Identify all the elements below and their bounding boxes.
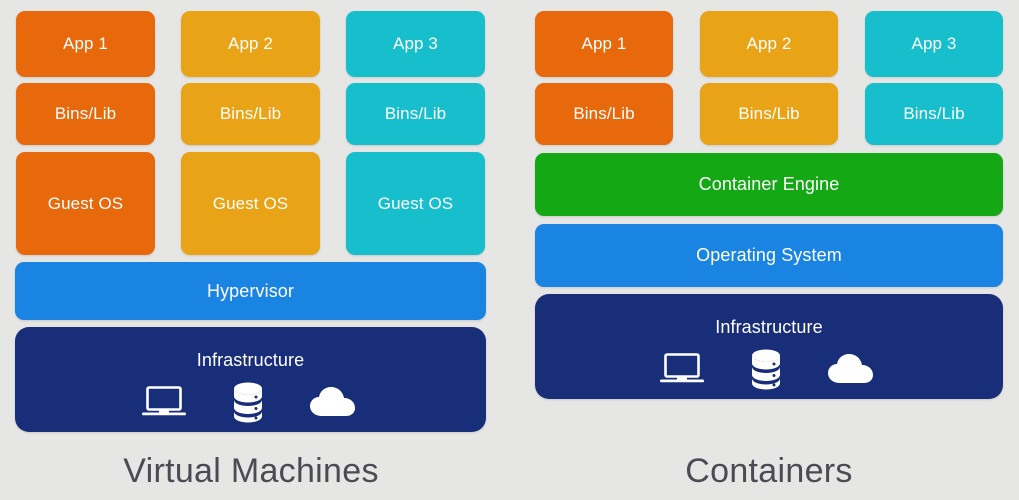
stack-box-bins-lib: Bins/Lib [346, 83, 485, 145]
infrastructure-icon-row [535, 348, 1003, 390]
stack-box-app-2: App 2 [700, 11, 838, 77]
stack-box-guest-os: Guest OS [346, 152, 485, 255]
layer-operating-system: Operating System [535, 224, 1003, 287]
laptop-icon [141, 385, 187, 419]
stack-box-app-1: App 1 [16, 11, 155, 77]
stack-box-app-1: App 1 [535, 11, 673, 77]
layer-hypervisor: Hypervisor [15, 262, 486, 320]
layer-container-engine: Container Engine [535, 153, 1003, 216]
cloud-icon [309, 386, 361, 418]
stack-box-bins-lib: Bins/Lib [535, 83, 673, 145]
stack-box-app-2: App 2 [181, 11, 320, 77]
diagram-canvas: App 1Bins/LibGuest OSApp 2Bins/LibGuest … [0, 0, 1019, 500]
layer-infrastructure: Infrastructure [15, 327, 486, 432]
stack-box-app-3: App 3 [865, 11, 1003, 77]
database-icon [749, 348, 783, 390]
layer-infrastructure: Infrastructure [535, 294, 1003, 399]
laptop-icon [659, 352, 705, 386]
layer-label: Infrastructure [15, 350, 486, 371]
panel-caption-containers: Containers [534, 452, 1004, 491]
database-icon [231, 381, 265, 423]
layer-label: Infrastructure [535, 317, 1003, 338]
stack-box-bins-lib: Bins/Lib [700, 83, 838, 145]
stack-box-bins-lib: Bins/Lib [16, 83, 155, 145]
stack-box-app-3: App 3 [346, 11, 485, 77]
stack-box-guest-os: Guest OS [181, 152, 320, 255]
cloud-icon [827, 353, 879, 385]
stack-box-bins-lib: Bins/Lib [181, 83, 320, 145]
stack-box-bins-lib: Bins/Lib [865, 83, 1003, 145]
infrastructure-icon-row [15, 381, 486, 423]
panel-caption-virtual-machines: Virtual Machines [16, 452, 486, 491]
stack-box-guest-os: Guest OS [16, 152, 155, 255]
